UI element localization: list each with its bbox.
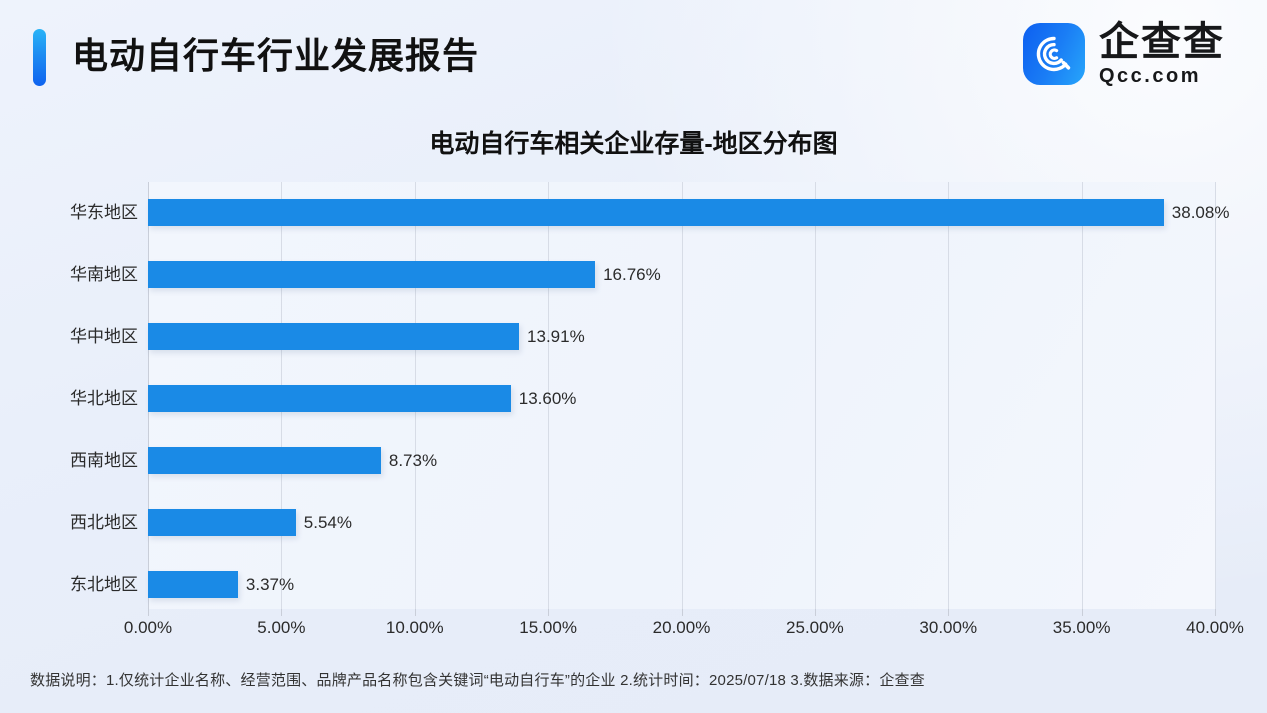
x-tick-mark [948, 609, 949, 616]
x-tick-label: 5.00% [257, 618, 305, 638]
category-label: 西南地区 [0, 447, 138, 474]
x-tick-label: 40.00% [1186, 618, 1244, 638]
category-label: 西北地区 [0, 509, 138, 536]
x-tick-label: 25.00% [786, 618, 844, 638]
category-label: 华东地区 [0, 199, 138, 226]
bar-value-label: 38.08% [1172, 199, 1230, 226]
bar[interactable] [148, 571, 238, 598]
chart-title: 电动自行车相关企业存量-地区分布图 [0, 124, 1267, 160]
brand-name-en: Qcc.com [1099, 66, 1225, 86]
page-title: 电动自行车行业发展报告 [72, 27, 479, 85]
bar-row: 华东地区38.08% [0, 197, 1267, 229]
x-tick-label: 10.00% [386, 618, 444, 638]
bar[interactable] [148, 385, 511, 412]
bar-value-label: 5.54% [304, 509, 352, 536]
x-tick-mark [1215, 609, 1216, 616]
category-label: 华北地区 [0, 385, 138, 412]
x-tick-label: 35.00% [1053, 618, 1111, 638]
bar-row: 华北地区13.60% [0, 383, 1267, 415]
bar-row: 华南地区16.76% [0, 259, 1267, 291]
x-tick-mark [148, 609, 149, 616]
page-header: 电动自行车行业发展报告 企查查 Qcc.com [0, 0, 1267, 112]
bar[interactable] [148, 447, 381, 474]
footnote: 数据说明：1.仅统计企业名称、经营范围、品牌产品名称包含关键词“电动自行车”的企… [30, 669, 925, 690]
bar-value-label: 13.91% [527, 323, 585, 350]
x-tick-mark [815, 609, 816, 616]
category-label: 华中地区 [0, 323, 138, 350]
bar[interactable] [148, 509, 296, 536]
x-tick-mark [548, 609, 549, 616]
bar-value-label: 3.37% [246, 571, 294, 598]
bar-value-label: 16.76% [603, 261, 661, 288]
bar-row: 西南地区8.73% [0, 445, 1267, 477]
x-tick-label: 20.00% [653, 618, 711, 638]
bar[interactable] [148, 323, 519, 350]
bar-value-label: 8.73% [389, 447, 437, 474]
qcc-logo-icon [1023, 23, 1085, 85]
category-label: 华南地区 [0, 261, 138, 288]
bar[interactable] [148, 199, 1164, 226]
regional-distribution-bar-chart: 华东地区38.08%华南地区16.76%华中地区13.91%华北地区13.60%… [0, 182, 1267, 652]
brand-logo[interactable]: 企查查 Qcc.com [1023, 22, 1225, 86]
bar-row: 西北地区5.54% [0, 507, 1267, 539]
x-tick-mark [415, 609, 416, 616]
report-page: 电动自行车行业发展报告 企查查 Qcc.com 电动自行车相关企业存量-地区分布… [0, 0, 1267, 713]
x-tick-label: 15.00% [519, 618, 577, 638]
x-tick-label: 30.00% [919, 618, 977, 638]
x-tick-mark [1082, 609, 1083, 616]
x-tick-mark [682, 609, 683, 616]
bar[interactable] [148, 261, 595, 288]
bar-row: 华中地区13.91% [0, 321, 1267, 353]
bar-row: 东北地区3.37% [0, 569, 1267, 601]
category-label: 东北地区 [0, 571, 138, 598]
title-accent-bar [33, 29, 46, 86]
bar-value-label: 13.60% [519, 385, 577, 412]
x-tick-label: 0.00% [124, 618, 172, 638]
brand-logo-text: 企查查 Qcc.com [1099, 22, 1225, 86]
x-tick-mark [281, 609, 282, 616]
brand-name-cn: 企查查 [1099, 22, 1225, 62]
